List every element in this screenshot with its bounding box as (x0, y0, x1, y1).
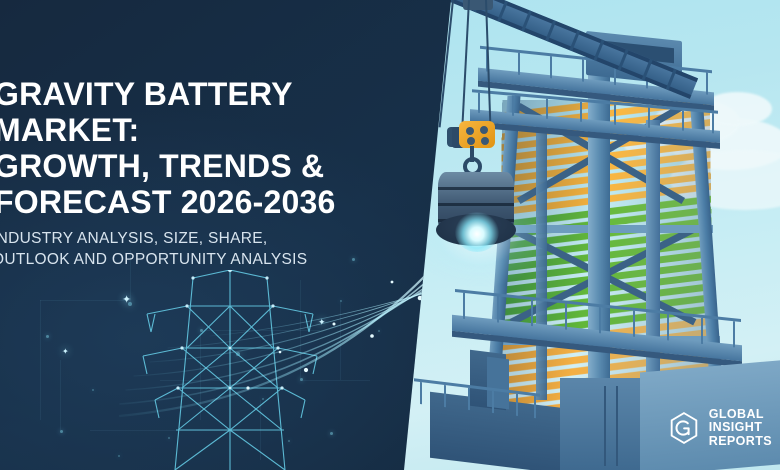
page-title: GRAVITY BATTERY MARKET: GROWTH, TRENDS &… (0, 76, 394, 220)
title-line-2: MARKET: (0, 112, 394, 148)
energy-glow-core (455, 212, 499, 252)
report-cover: ✦ ✦ ✦ GRAVITY BATTERY MARKET: GROWTH, TR… (0, 0, 780, 470)
global-insight-reports-hexagon-icon (667, 411, 701, 445)
subtitle-line-2: OUTLOOK AND OPPORTUNITY ANALYSIS (0, 249, 322, 270)
subtitle-line-1: INDUSTRY ANALYSIS, SIZE, SHARE, (0, 228, 322, 249)
brand-line-1: GLOBAL (709, 408, 772, 422)
sparkle-icon: ✦ (122, 295, 131, 306)
brand-logo[interactable]: GLOBAL INSIGHT REPORTS (667, 408, 772, 449)
title-line-4: FORECAST 2026-2036 (0, 184, 394, 220)
hook-block (459, 121, 495, 148)
brand-line-3: REPORTS (709, 435, 772, 449)
page-subtitle: INDUSTRY ANALYSIS, SIZE, SHARE, OUTLOOK … (0, 228, 322, 270)
brand-name: GLOBAL INSIGHT REPORTS (709, 408, 772, 449)
brand-line-2: INSIGHT (709, 421, 772, 435)
sparkle-icon: ✦ (318, 318, 326, 327)
title-line-3: GROWTH, TRENDS & (0, 148, 394, 184)
ladder-icon (604, 386, 618, 466)
sparkle-icon: ✦ (62, 348, 69, 356)
hoist-cable (461, 0, 470, 126)
title-line-1: GRAVITY BATTERY (0, 76, 394, 112)
